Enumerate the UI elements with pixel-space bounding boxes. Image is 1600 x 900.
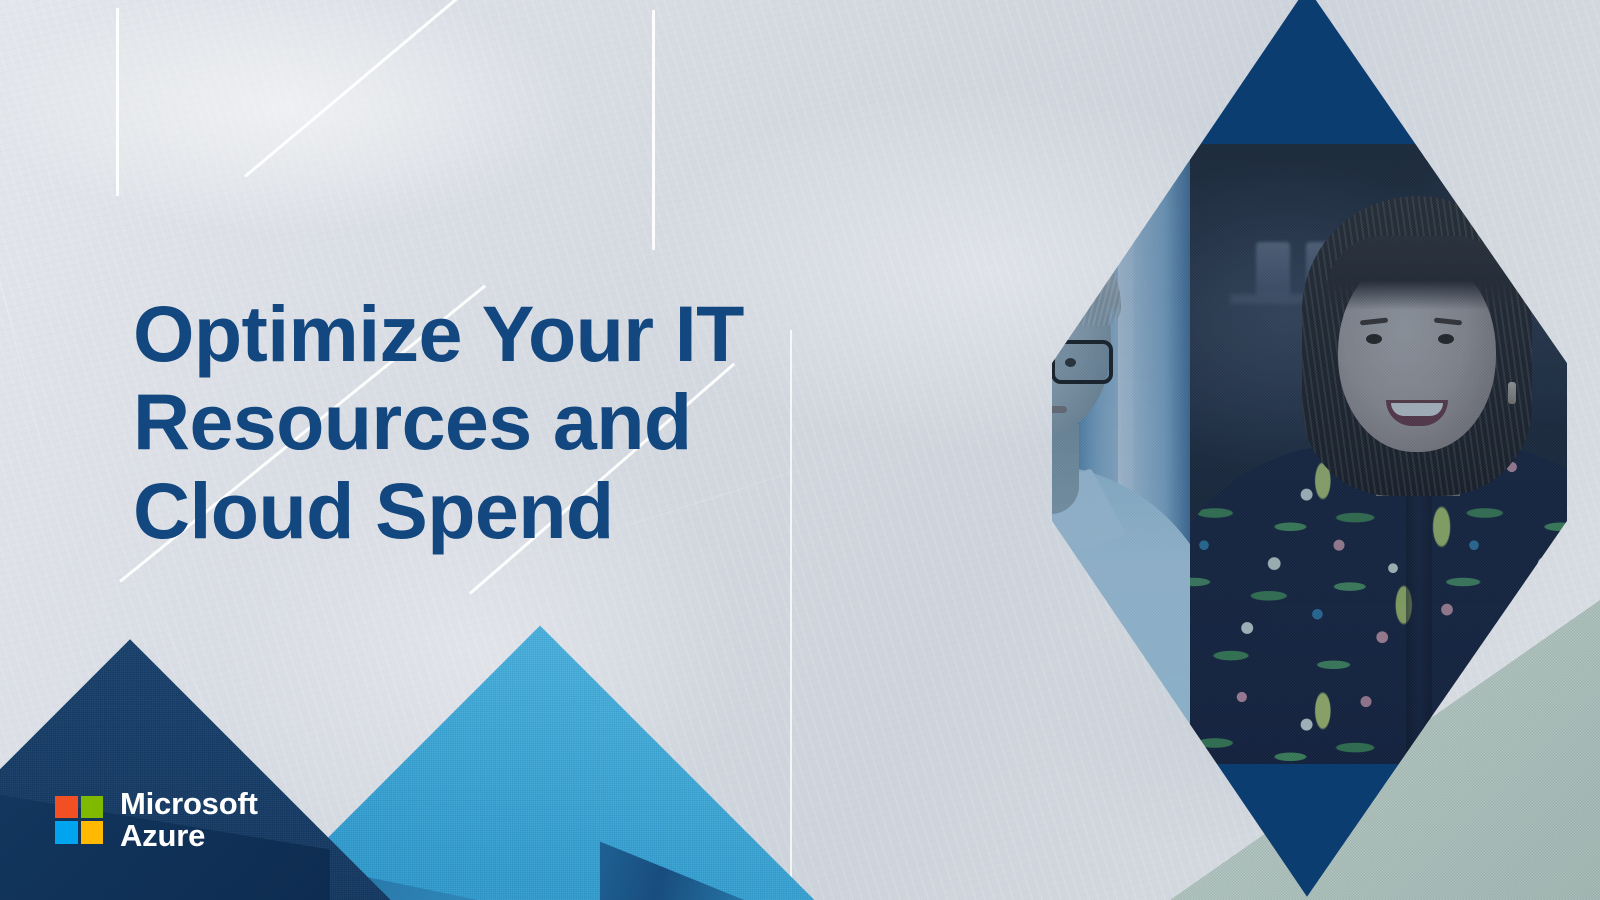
decor-line-vertical-left — [116, 8, 119, 196]
decor-line-vertical-mid — [790, 330, 792, 900]
page-title: Optimize Your IT Resources and Cloud Spe… — [133, 290, 773, 555]
decor-line-vertical-right — [652, 10, 655, 250]
logo-square-yellow — [81, 821, 104, 844]
logo-square-green — [81, 796, 104, 819]
microsoft-four-squares-icon — [55, 796, 103, 844]
brand-name: Microsoft Azure — [120, 788, 258, 852]
logo-square-red — [55, 796, 78, 819]
microsoft-azure-logo[interactable]: Microsoft Azure — [55, 788, 258, 852]
logo-square-blue — [55, 821, 78, 844]
